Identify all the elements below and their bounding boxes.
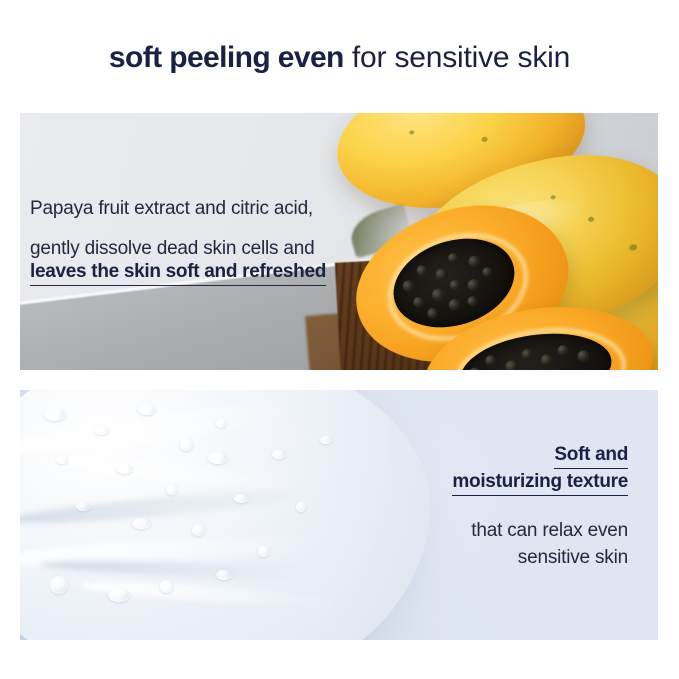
headline-secondary: for sensitive skin — [344, 41, 570, 74]
gel-bubble — [94, 426, 109, 435]
gel-bubble — [208, 452, 228, 464]
gel-copy-line-3: that can relax even — [328, 518, 628, 545]
papaya-copy-line-1: Papaya fruit extract and citric acid, — [30, 198, 390, 220]
gel-bubble — [216, 570, 232, 580]
papaya-copy-line-3-emphasis: leaves the skin soft and refreshed — [30, 261, 326, 286]
gel-description: Soft and moisturizing texture that can r… — [328, 442, 628, 571]
product-detail-banner: soft peeling even for sensitive skin — [0, 0, 679, 679]
gel-bubble — [272, 450, 286, 459]
gel-bubble — [180, 438, 193, 451]
gel-bubble — [192, 524, 204, 536]
gel-bubble — [160, 580, 173, 593]
headline-emphasis: soft peeling even — [109, 41, 344, 74]
gel-bubble — [50, 576, 68, 594]
gel-copy-line-4: sensitive skin — [328, 545, 628, 572]
gel-bubble — [234, 494, 249, 503]
gel-bubble — [138, 404, 156, 415]
papaya-description: Papaya fruit extract and citric acid, ge… — [30, 198, 390, 286]
gel-texture-section: Soft and moisturizing texture that can r… — [20, 390, 658, 640]
gel-bubble — [116, 464, 133, 474]
gel-bubble — [166, 484, 177, 495]
page-title: soft peeling even for sensitive skin — [0, 42, 679, 74]
gel-bubble — [56, 456, 68, 464]
gel-bubble — [296, 502, 306, 512]
gel-copy-line-2-emphasis: moisturizing texture — [328, 469, 628, 496]
gel-bubble — [216, 418, 226, 428]
gel-bubble — [258, 546, 269, 557]
gel-copy-line-1-emphasis: Soft and — [328, 442, 628, 469]
gel-bubble — [76, 502, 90, 511]
papaya-copy-line-2: gently dissolve dead skin cells and — [30, 238, 390, 260]
gel-bubble — [44, 408, 66, 421]
papaya-section: Papaya fruit extract and citric acid, ge… — [20, 113, 658, 370]
gel-bubble — [108, 588, 130, 602]
gel-bubble — [132, 518, 151, 529]
